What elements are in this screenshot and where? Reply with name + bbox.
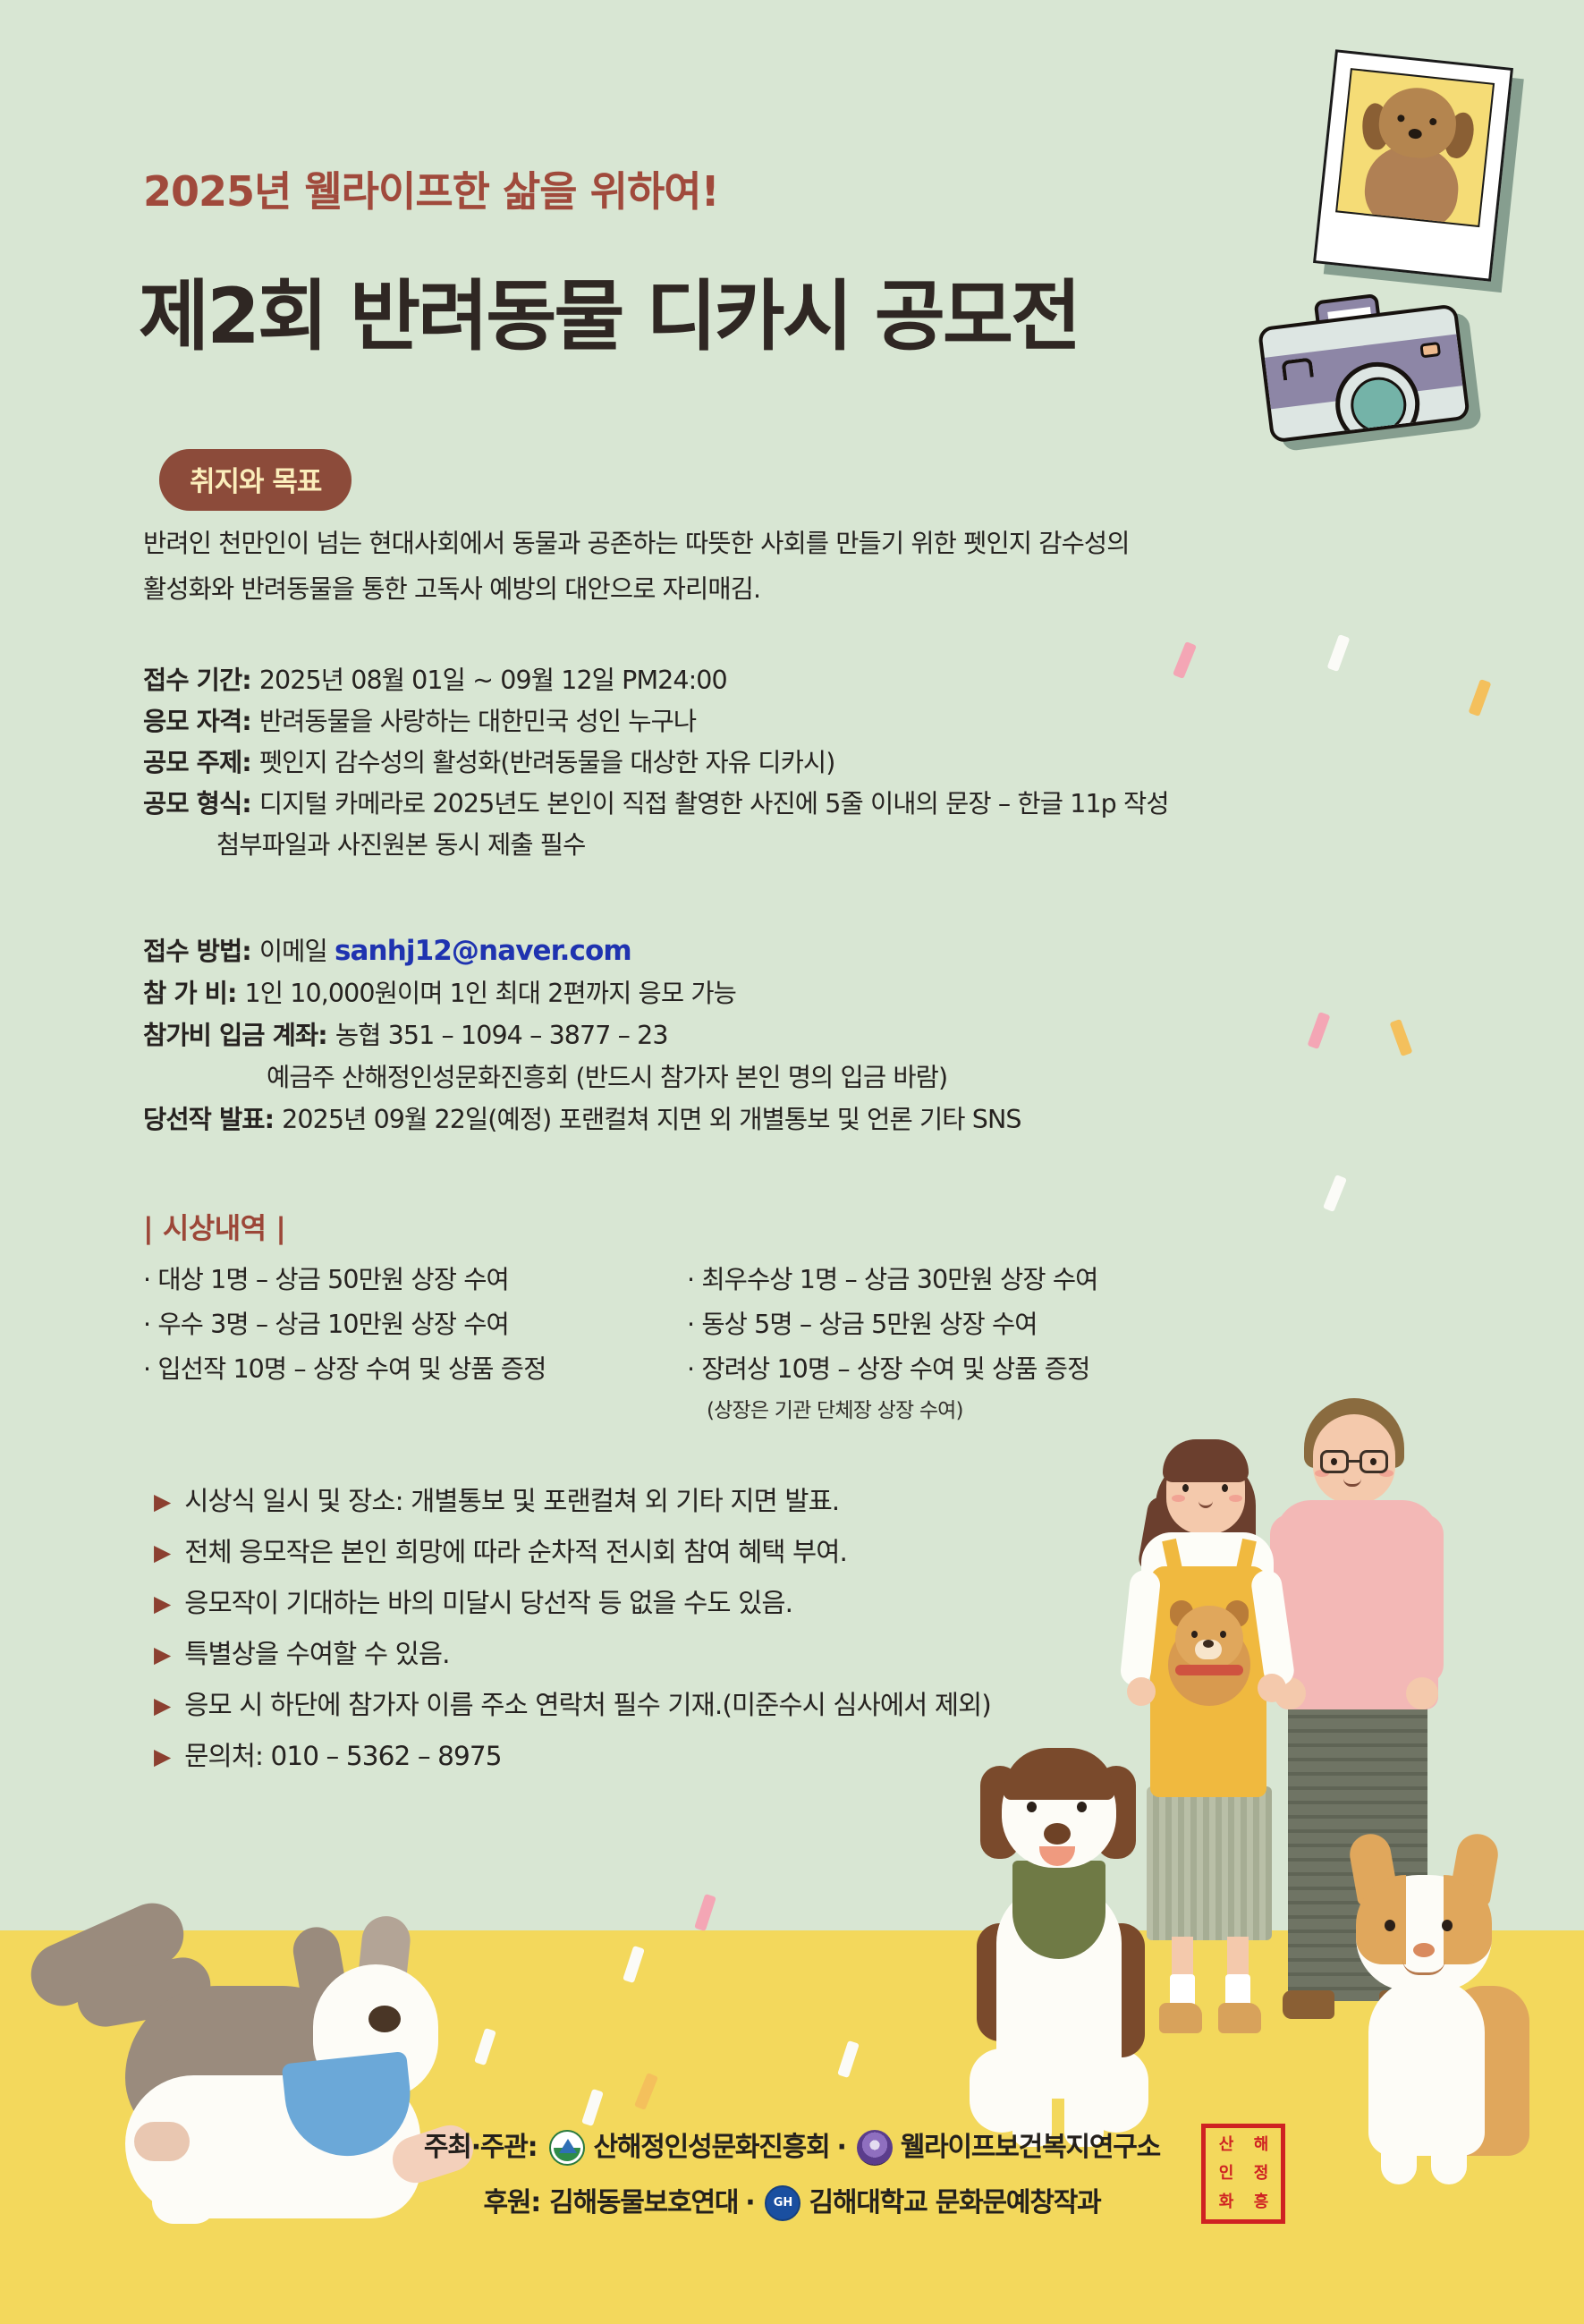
confetti-piece <box>1173 641 1197 679</box>
info-label-period: 접수 기간: <box>143 666 259 695</box>
seal-char: 정 <box>1254 2166 1268 2182</box>
note-item: ▶ 응모작이 기대하는 바의 미달시 당선작 등 없을 수도 있음. <box>154 1578 991 1629</box>
confetti-piece <box>694 1894 716 1931</box>
sitting-dog-eye-left <box>1027 1802 1037 1812</box>
awards-heading: | 시상내역 | <box>143 1206 285 1247</box>
award-item: · 대상 1명 – 상금 50만원 상장 수여 <box>143 1258 687 1302</box>
footer-host-row: 주최·주관: 산해정인성문화진흥회 · 웰라이프보건복지연구소 <box>0 2120 1584 2176</box>
confetti-piece <box>1469 679 1492 717</box>
note-text: 전체 응모작은 본인 희망에 따라 순차적 전시회 참여 혜택 부여. <box>184 1527 847 1578</box>
seal-row: 인 정 <box>1208 2159 1278 2188</box>
sitting-dog-eye-right <box>1077 1802 1087 1812</box>
triangle-icon: ▶ <box>154 1476 171 1527</box>
apply-row-announce: 당선작 발표: 2025년 09월 22일(예정) 포랜컬쳐 지면 외 개별통보… <box>143 1098 1021 1141</box>
polaroid-photo-poodle <box>1313 49 1513 282</box>
note-item: ▶ 전체 응모작은 본인 희망에 따라 순차적 전시회 참여 혜택 부여. <box>154 1527 991 1578</box>
woman-hand-right <box>1258 1674 1286 1702</box>
info-block: 접수 기간: 2025년 08월 01일 ~ 09월 12일 PM24:00 응… <box>143 660 1169 866</box>
apply-label-account: 참가비 입금 계좌: <box>143 1021 335 1050</box>
footer: 주최·주관: 산해정인성문화진흥회 · 웰라이프보건복지연구소 후원: 김해동물… <box>0 2120 1584 2231</box>
poster-canvas: 2025년 웰라이프한 삶을 위하여! 제2회 반려동물 디카시 공모전 취지와… <box>0 0 1584 2324</box>
seal-char: 해 <box>1254 2137 1268 2153</box>
apply-row-account: 참가비 입금 계좌: 농협 351 – 1094 – 3877 – 23 <box>143 1014 1021 1056</box>
camera-shutter-button <box>1419 342 1441 359</box>
triangle-icon: ▶ <box>154 1578 171 1629</box>
seal-char: 산 <box>1219 2137 1233 2153</box>
corgi-eye-left <box>1385 1920 1395 1931</box>
official-seal: 산 해 인 정 화 흥 <box>1201 2124 1285 2224</box>
woman-hand-left <box>1127 1677 1156 1706</box>
seal-char: 화 <box>1219 2194 1233 2210</box>
woman-eye-right <box>1222 1484 1228 1492</box>
poster-title: 제2회 반려동물 디카시 공모전 <box>139 253 1079 365</box>
apply-value-fee: 1인 10,000원이며 1인 최대 2편까지 응모 가능 <box>245 979 736 1008</box>
footer-host-org2: 웰라이프보건복지연구소 <box>901 2120 1160 2176</box>
info-row-format-extra: 첨부파일과 사진원본 동시 제출 필수 <box>143 825 1169 866</box>
seal-char: 흥 <box>1254 2194 1268 2210</box>
poster-subtitle: 2025년 웰라이프한 삶을 위하여! <box>143 159 719 218</box>
note-text-contact: 문의처: 010 – 5362 – 8975 <box>184 1731 501 1782</box>
footer-support-org2: 김해대학교 문화문예창작과 <box>809 2176 1100 2231</box>
footer-support-label: 후원: <box>483 2176 540 2231</box>
confetti-piece <box>1327 634 1351 672</box>
note-text: 응모작이 기대하는 바의 미달시 당선작 등 없을 수도 있음. <box>184 1578 792 1629</box>
apply-row-account-holder: 예금주 산해정인성문화진흥회 (반드시 참가자 본인 명의 입금 바람) <box>143 1056 1021 1098</box>
footer-host-separator: · <box>836 2120 845 2176</box>
awards-note: (상장은 기관 단체장 상장 수여) <box>707 1393 963 1423</box>
award-item: · 입선작 10명 – 상장 수여 및 상품 증정 <box>143 1347 687 1392</box>
sitting-dog-nose <box>1044 1823 1071 1845</box>
running-dog-eye <box>368 2006 401 2032</box>
apply-value-account: 농협 351 – 1094 – 3877 – 23 <box>335 1021 668 1050</box>
triangle-icon: ▶ <box>154 1629 171 1680</box>
intro-line-2: 활성화와 반려동물을 통한 고독사 예방의 대안으로 자리매김. <box>143 566 1130 612</box>
man-hand-right <box>1406 1677 1438 1709</box>
footer-support-org1: 김해동물보호연대 <box>549 2176 738 2231</box>
note-text: 응모 시 하단에 참가자 이름 주소 연락처 필수 기재.(미준수시 심사에서 … <box>184 1680 991 1731</box>
note-item: ▶ 응모 시 하단에 참가자 이름 주소 연락처 필수 기재.(미준수시 심사에… <box>154 1680 991 1731</box>
woman-eye-left <box>1182 1484 1189 1492</box>
confetti-piece <box>1323 1175 1347 1212</box>
apply-email-link[interactable]: sanhj12@naver.com <box>335 935 631 967</box>
info-label-format: 공모 형식: <box>143 789 259 818</box>
info-label-theme: 공모 주제: <box>143 748 259 777</box>
camera-lens-inner <box>1348 374 1410 436</box>
man-eye-left <box>1331 1458 1337 1465</box>
sitting-dog-bandana <box>1012 1861 1105 1959</box>
info-value-format: 디지털 카메라로 2025년도 본인이 직접 촬영한 사진에 5줄 이내의 문장… <box>259 789 1169 818</box>
polaroid-photo-image <box>1335 68 1495 227</box>
info-row-format: 공모 형식: 디지털 카메라로 2025년도 본인이 직접 촬영한 사진에 5줄… <box>143 784 1169 825</box>
note-text: 시상식 일시 및 장소: 개별통보 및 포랜컬쳐 외 기타 지면 발표. <box>184 1476 839 1527</box>
puppy-eye-left <box>1191 1631 1198 1638</box>
footer-support-separator: · <box>745 2176 754 2231</box>
seal-char: 인 <box>1219 2166 1233 2182</box>
triangle-icon: ▶ <box>154 1527 171 1578</box>
confetti-piece <box>1308 1012 1331 1049</box>
note-item: ▶ 특별상을 수여할 수 있음. <box>154 1629 991 1680</box>
info-row-period: 접수 기간: 2025년 08월 01일 ~ 09월 12일 PM24:00 <box>143 660 1169 701</box>
info-row-theme: 공모 주제: 펫인지 감수성의 활성화(반려동물을 대상한 자유 디카시) <box>143 742 1169 784</box>
triangle-icon: ▶ <box>154 1731 171 1782</box>
apply-method-prefix: 이메일 <box>259 937 335 966</box>
intro-line-1: 반려인 천만인이 넘는 현대사회에서 동물과 공존하는 따뜻한 사회를 만들기 … <box>143 521 1130 566</box>
award-item: · 우수 3명 – 상금 10만원 상장 수여 <box>143 1302 687 1347</box>
intro-paragraph: 반려인 천만인이 넘는 현대사회에서 동물과 공존하는 따뜻한 사회를 만들기 … <box>143 521 1130 612</box>
apply-label-method: 접수 방법: <box>143 937 259 966</box>
man-glasses-bridge <box>1349 1460 1360 1463</box>
apply-row-fee: 참 가 비: 1인 10,000원이며 1인 최대 2편까지 응모 가능 <box>143 972 1021 1014</box>
awards-grid: · 대상 1명 – 상금 50만원 상장 수여 · 최우수상 1명 – 상금 3… <box>143 1258 1097 1392</box>
sitting-dog <box>930 1753 1181 2183</box>
man-shoe-left <box>1283 1990 1334 2019</box>
info-label-eligibility: 응모 자격: <box>143 707 259 736</box>
apply-label-fee: 참 가 비: <box>143 979 245 1008</box>
puppy-collar <box>1175 1665 1243 1675</box>
award-item: · 장려상 10명 – 상장 수여 및 상품 증정 <box>687 1347 1097 1392</box>
woman-cheek-left <box>1172 1495 1185 1502</box>
info-value-theme: 펫인지 감수성의 활성화(반려동물을 대상한 자유 디카시) <box>259 748 835 777</box>
apply-label-announce: 당선작 발표: <box>143 1105 282 1134</box>
award-item: · 최우수상 1명 – 상금 30만원 상장 수여 <box>687 1258 1097 1302</box>
gimhae-university-logo-icon <box>765 2185 800 2221</box>
woman-shoe-right <box>1218 2003 1261 2033</box>
sanhaejeong-logo-icon <box>549 2130 585 2166</box>
woman-bangs <box>1163 1439 1249 1482</box>
apply-value-announce: 2025년 09월 22일(예정) 포랜컬쳐 지면 외 개별통보 및 언론 기타… <box>282 1105 1021 1134</box>
camera-body <box>1258 303 1470 443</box>
confetti-piece <box>1390 1019 1413 1056</box>
apply-row-method: 접수 방법: 이메일 sanhj12@naver.com <box>143 930 1021 972</box>
welllife-logo-icon <box>857 2130 893 2166</box>
note-item: ▶ 문의처: 010 – 5362 – 8975 <box>154 1731 991 1782</box>
footer-host-org1: 산해정인성문화진흥회 <box>593 2120 829 2176</box>
corgi-eye-right <box>1442 1920 1453 1931</box>
notes-list: ▶ 시상식 일시 및 장소: 개별통보 및 포랜컬쳐 외 기타 지면 발표. ▶… <box>154 1476 991 1782</box>
seal-row: 화 흥 <box>1208 2188 1278 2217</box>
award-item: · 동상 5명 – 상금 5만원 상장 수여 <box>687 1302 1097 1347</box>
camera-grip <box>1282 357 1314 380</box>
puppy-nose <box>1203 1640 1214 1648</box>
purpose-badge: 취지와 목표 <box>159 449 352 511</box>
camera-illustration <box>1255 283 1478 450</box>
puppy-eye-right <box>1220 1631 1226 1638</box>
footer-host-label: 주최·주관: <box>424 2120 538 2176</box>
sitting-dog-head-patch <box>1004 1748 1114 1800</box>
man-shirt <box>1275 1500 1438 1709</box>
info-value-period: 2025년 08월 01일 ~ 09월 12일 PM24:00 <box>259 666 727 695</box>
woman-cheek-right <box>1229 1495 1242 1502</box>
seal-row: 산 해 <box>1208 2131 1278 2159</box>
info-row-eligibility: 응모 자격: 반려동물을 사랑하는 대한민국 성인 누구나 <box>143 701 1169 742</box>
corgi-nose <box>1413 1943 1435 1957</box>
man-eye-right <box>1370 1458 1376 1465</box>
info-value-eligibility: 반려동물을 사랑하는 대한민국 성인 누구나 <box>259 707 696 736</box>
triangle-icon: ▶ <box>154 1680 171 1731</box>
note-item: ▶ 시상식 일시 및 장소: 개별통보 및 포랜컬쳐 외 기타 지면 발표. <box>154 1476 991 1527</box>
footer-support-row: 후원: 김해동물보호연대 · 김해대학교 문화문예창작과 <box>0 2176 1584 2231</box>
apply-block: 접수 방법: 이메일 sanhj12@naver.com 참 가 비: 1인 1… <box>143 930 1021 1141</box>
note-text: 특별상을 수여할 수 있음. <box>184 1629 449 1680</box>
